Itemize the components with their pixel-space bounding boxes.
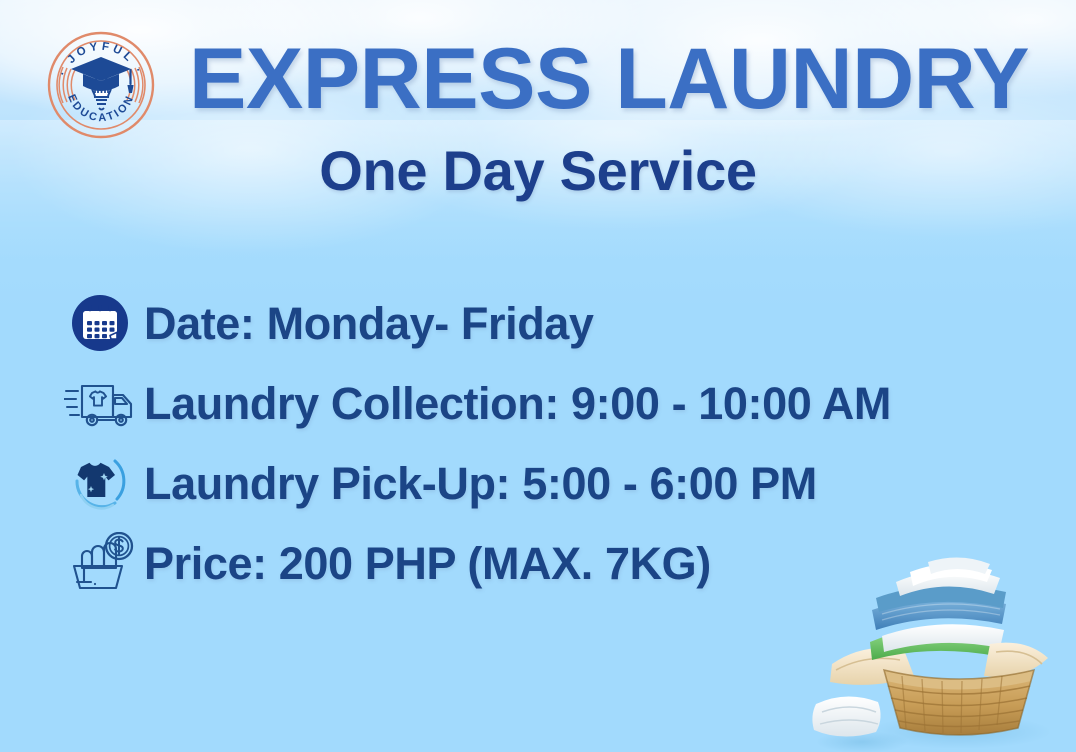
price-scale-dollar-icon	[56, 527, 144, 599]
laundry-poster: · JOYFUL · EDUCATION	[0, 0, 1076, 752]
poster-title: EXPRESS LAUNDRY	[0, 36, 1076, 122]
calendar-icon	[56, 287, 144, 359]
list-item-label: Price: 200 PHP (MAX. 7KG)	[144, 541, 711, 586]
list-item-label: Date: Monday- Friday	[144, 301, 594, 346]
delivery-truck-icon	[56, 367, 144, 439]
laundry-basket-image	[810, 552, 1076, 752]
poster-subtitle: One Day Service	[0, 143, 1076, 199]
tshirt-wash-icon	[56, 447, 144, 519]
list-item: Laundry Collection: 9:00 - 10:00 AM	[56, 363, 1046, 443]
list-item-label: Laundry Pick-Up: 5:00 - 6:00 PM	[144, 461, 817, 506]
list-item: Date: Monday- Friday	[56, 283, 1046, 363]
list-item-label: Laundry Collection: 9:00 - 10:00 AM	[144, 381, 891, 426]
list-item: Laundry Pick-Up: 5:00 - 6:00 PM	[56, 443, 1046, 523]
